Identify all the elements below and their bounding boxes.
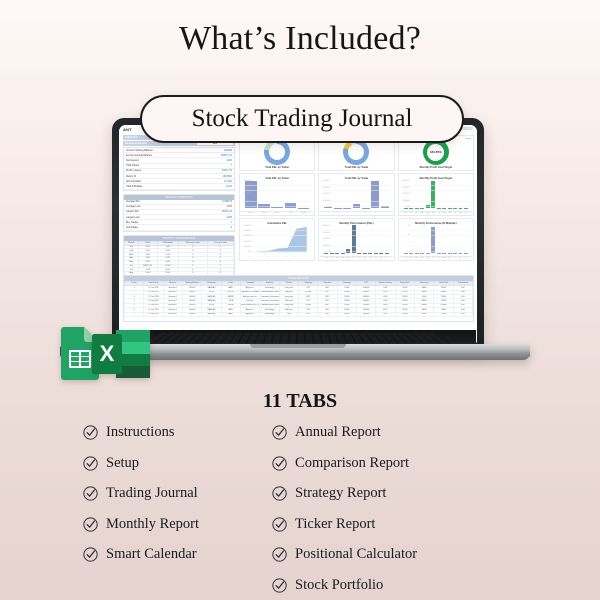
chart-cumulative-pl-area: Cumulative P&L 50,000.0040,000.0030,000.… — [239, 218, 315, 261]
axis-tick-label: Jan — [404, 257, 408, 259]
axis-tick-label: 10000.00 — [403, 200, 410, 202]
y-axis-ticks: 40,000.0030,000.0020,000.0010,000.000.00 — [242, 180, 252, 208]
tab-item-comparison-report[interactable]: Comparison Report — [271, 455, 417, 472]
tab-item-positional-calculator[interactable]: Positional Calculator — [271, 546, 417, 563]
axis-tick-label: Jul — [357, 257, 361, 259]
axis-tick-label: 40,000.00 — [243, 180, 251, 182]
axis-tick-label: 20,000.00 — [243, 193, 251, 195]
axis-tick-label: 20,000.00 — [323, 238, 331, 240]
axis-tick-label: 30000.00 — [403, 187, 410, 189]
axis-tick-label: 40,000.00 — [323, 225, 331, 227]
gridlines — [323, 225, 389, 253]
stat-value: 38401.10 — [222, 210, 232, 213]
axis-tick-label: Aug — [442, 212, 446, 214]
account-statistics-panel: ACCOUNT STATISTICS Average Win 21788.33 … — [123, 194, 235, 232]
axis-tick-label: 5 — [409, 242, 410, 244]
check-circle-icon — [82, 516, 99, 533]
tab-item-label: Smart Calendar — [106, 547, 197, 562]
chart-title: Monthly Profit Goal Target — [400, 166, 472, 169]
chart-row-bars-1: Total P&L by Ticker 40,000.0030,000.0020… — [239, 173, 474, 216]
tab-item-label: Stock Portfolio — [295, 578, 383, 593]
axis-tick-label: 7 — [301, 256, 309, 258]
tab-item-label: Trading Journal — [106, 486, 198, 501]
check-circle-icon — [271, 455, 288, 472]
tab-item-annual-report[interactable]: Annual Report — [271, 424, 417, 441]
table-cell: 4500 — [414, 312, 433, 316]
stat-label: Largest Win — [126, 210, 139, 213]
summary-label: Profit / Losses — [126, 169, 141, 172]
account-selector-label: Choose an account — [125, 142, 147, 145]
table-cell: BUY — [318, 312, 337, 316]
axis-tick-label: Sep — [448, 212, 452, 214]
axis-tick-label: 1 — [245, 256, 253, 258]
axis-tick-label: 2 — [334, 212, 342, 214]
axis-tick-label: 40,000.00 — [323, 180, 331, 182]
axis-tick-label: Jan — [404, 212, 408, 214]
axis-tick-label: Aug — [363, 257, 367, 259]
summary-label: Account Starting Balance — [126, 149, 153, 152]
tab-item-label: Monthly Report — [106, 517, 199, 532]
table-cell: Apple Inc. — [240, 312, 259, 316]
axis-tick-label: 3 — [343, 212, 351, 214]
axis-tick-label: AMZN — [271, 212, 283, 214]
x-axis-ticks: 1234567 — [320, 212, 392, 214]
stat-value: 21788.33 — [222, 200, 232, 203]
axis-tick-label: Nov — [459, 212, 463, 214]
axis-tick-label: 2 — [254, 256, 262, 258]
axis-tick-label: Dec — [385, 257, 389, 259]
summary-label: Net Deposit — [126, 159, 139, 162]
area-plot-area: 50,000.0040,000.0030,000.0020,000.0010,0… — [241, 225, 313, 256]
tab-item-setup[interactable]: Setup — [82, 455, 199, 472]
axis-tick-label: Oct — [374, 257, 378, 259]
axis-tick-label: May — [346, 257, 350, 259]
tab-item-stock-portfolio[interactable]: Stock Portfolio — [271, 577, 417, 594]
axis-tick-label: Aug — [442, 257, 446, 259]
summary-label: Winning Ratio — [126, 180, 141, 183]
y-axis-ticks: 50,000.0040,000.0030,000.0020,000.0010,0… — [242, 225, 252, 253]
legend-entry: Target — [465, 138, 471, 141]
tabs-count-heading: 11 TABS — [0, 390, 600, 413]
axis-tick-label: 30,000.00 — [323, 232, 331, 234]
axis-tick-label: Apr — [420, 257, 424, 259]
app-icons-group: X — [58, 322, 154, 380]
bar-plot-area: 40,000.0030,000.0020,000.0010,000.000.00 — [241, 180, 313, 212]
tab-item-label: Instructions — [106, 425, 174, 440]
chart-row-bars-2: Cumulative P&L 50,000.0040,000.0030,000.… — [239, 218, 474, 261]
x-axis-ticks: 1234567 — [241, 256, 313, 258]
axis-tick-label: 6 — [292, 256, 300, 258]
summary-value: 71.43% — [224, 180, 232, 183]
axis-tick-label: Jan — [324, 257, 328, 259]
summary-label: Account Ending Balance — [126, 154, 152, 157]
summary-value: 12.81 — [226, 185, 232, 188]
page-title: What’s Included? — [0, 20, 600, 58]
tab-item-label: Comparison Report — [295, 456, 409, 471]
summary-value: 84371.31 — [222, 169, 232, 172]
x-axis-ticks: JanFebMarAprMayJunJulAugSepOctNovDec — [400, 212, 472, 214]
axis-tick-label: 7 — [381, 212, 389, 214]
table-row: 715 Jun 2025Account 1100000NASDAQAAPLApp… — [125, 312, 473, 316]
stat-label: Buy Trades — [126, 221, 138, 224]
summary-label: Return % — [126, 175, 136, 178]
check-circle-icon — [271, 577, 288, 594]
tab-item-label: Positional Calculator — [295, 547, 417, 562]
microsoft-excel-icon[interactable]: X — [92, 328, 150, 380]
stat-value: -1205 — [226, 205, 232, 208]
axis-tick-label: 1 — [324, 212, 332, 214]
tab-item-instructions[interactable]: Instructions — [82, 424, 199, 441]
chart-monthly-profit-goal-bar: Monthly Profit Goal Target 40000.0030000… — [398, 173, 474, 216]
gridlines — [244, 180, 310, 208]
axis-tick-label: TSLA — [285, 212, 297, 214]
chart-monthly-performance-r-multiple: Monthly Performance (R-Multiple) 141050 … — [398, 218, 474, 261]
axis-tick-label: Oct — [453, 257, 457, 259]
tabs-column-right: Annual ReportComparison ReportStrategy R… — [271, 424, 417, 594]
axis-tick-label: 3 — [264, 256, 272, 258]
stat-label: Largest Loss — [126, 216, 140, 219]
axis-tick-label: Feb — [409, 212, 413, 214]
tab-item-smart-calendar[interactable]: Smart Calendar — [82, 546, 199, 563]
trade-register: TRADE REGISTER Sr No.Date of buyAccountS… — [123, 275, 474, 322]
axis-tick-label: Dec — [464, 212, 468, 214]
axis-tick-label: 50,000.00 — [243, 225, 251, 227]
axis-tick-label: 5 — [283, 256, 291, 258]
summary-label: Total Trades — [126, 164, 139, 167]
axis-tick-label: 40000.00 — [403, 180, 410, 182]
product-name-pill: Stock Trading Journal — [140, 95, 464, 143]
laptop-mockup: ANT Select Year — [112, 118, 484, 358]
check-circle-icon — [82, 546, 99, 563]
axis-tick-label: 20,000.00 — [323, 193, 331, 195]
axis-tick-label: May — [426, 257, 430, 259]
chart-title: Total P&L by Ticker — [241, 166, 313, 169]
table-cell: 5.00 — [453, 312, 472, 316]
gridlines — [323, 180, 389, 208]
summary-value: 100000 — [224, 149, 232, 152]
axis-tick-label: Feb — [330, 257, 334, 259]
summary-label: Total R Multiple — [126, 185, 142, 188]
x-axis-ticks: JanFebMarAprMayJunJulAugSepOctNovDec — [320, 257, 392, 259]
axis-tick-label: 30,000.00 — [243, 235, 251, 237]
poster-canvas: What’s Included? ANT — [0, 0, 600, 600]
laptop-screen: ANT Select Year — [119, 125, 477, 343]
summary-value: 184371.31 — [221, 154, 232, 157]
y-axis-ticks: 40000.0030000.0020000.0010000.000.00 — [401, 180, 411, 208]
stat-row: Sell Trades 0 — [124, 225, 234, 230]
table-cell: 7 — [125, 312, 144, 316]
axis-tick-label: Apr — [420, 212, 424, 214]
stat-label: Average Win — [126, 200, 140, 203]
axis-tick-label: GOOGL — [258, 212, 270, 214]
tab-item-label: Annual Report — [295, 425, 381, 440]
axis-tick-label: Apr — [341, 257, 345, 259]
axis-tick-label: 40,000.00 — [243, 230, 251, 232]
axis-tick-label: 10 — [408, 234, 410, 236]
axis-tick-label: Dec — [464, 257, 468, 259]
summary-value: 7 — [231, 164, 232, 167]
stat-value: 0 — [231, 226, 232, 229]
axis-tick-label: 10,000.00 — [323, 245, 331, 247]
gridlines — [244, 225, 310, 253]
axis-tick-label: May — [426, 212, 430, 214]
axis-tick-label: Nov — [459, 257, 463, 259]
axis-tick-label: Mar — [415, 257, 419, 259]
axis-tick-label: Jul — [437, 257, 441, 259]
axis-tick-label: META — [298, 212, 310, 214]
stat-label: Sell Trades — [126, 226, 138, 229]
table-cell: Account 1 — [163, 312, 182, 316]
tab-item-trading-journal[interactable]: Trading Journal — [82, 485, 199, 502]
table-cell: 19500 — [434, 312, 453, 316]
table-cell: Day — [279, 312, 298, 316]
table-cell: USD — [376, 312, 395, 316]
bar-plot-area: 40000.0030000.0020000.0010000.000.00 — [400, 180, 472, 212]
axis-tick-label: 4 — [353, 212, 361, 214]
axis-tick-label: Sep — [448, 257, 452, 259]
dashboard-brand: ANT — [123, 127, 132, 132]
chart-monthly-performance-pl: Monthly Performance (P&L) 40,000.0030,00… — [318, 218, 394, 261]
gridlines — [403, 180, 469, 208]
tab-item-ticker-report[interactable]: Ticker Report — [271, 516, 417, 533]
y-axis-ticks: 40,000.0030,000.0020,000.0010,000.000.00 — [321, 225, 331, 253]
laptop-bezel: ANT Select Year — [119, 125, 477, 343]
axis-tick-label: 0.00 — [248, 206, 251, 208]
check-circle-icon — [271, 546, 288, 563]
axis-tick-label: Mar — [335, 257, 339, 259]
table-cell: 19000 — [395, 312, 414, 316]
axis-tick-label: 20,000.00 — [243, 241, 251, 243]
bar-plot-area: 40,000.0030,000.0020,000.0010,000.000.00 — [320, 180, 392, 212]
laptop-lid: ANT Select Year — [112, 118, 484, 350]
table-cell: 100000 — [356, 312, 375, 316]
keyboard-keys — [146, 333, 450, 343]
stat-value: -1205 — [226, 216, 232, 219]
y-axis-ticks: 141050 — [401, 225, 411, 253]
bar-plot-area: 141050 — [400, 225, 472, 257]
chart-total-pl-by-trade-bar: Total P&L by Trade 40,000.0030,000.0020,… — [318, 173, 394, 216]
axis-tick-label: Nov — [379, 257, 383, 259]
bar-plot-area: 40,000.0030,000.0020,000.0010,000.000.00 — [320, 225, 392, 257]
axis-tick-label: 4 — [273, 256, 281, 258]
axis-tick-label: 0 — [409, 251, 410, 253]
y-axis-ticks: 40,000.0030,000.0020,000.0010,000.000.00 — [321, 180, 331, 208]
trade-register-table: Sr No.Date of buyAccountStarting Balance… — [124, 281, 473, 317]
axis-tick-label: AAPL — [245, 212, 257, 214]
axis-tick-label: Sep — [368, 257, 372, 259]
check-circle-icon — [82, 455, 99, 472]
axis-tick-label: Mar — [415, 212, 419, 214]
tab-item-monthly-report[interactable]: Monthly Report — [82, 516, 199, 533]
axis-tick-label: 20000.00 — [403, 193, 410, 195]
axis-tick-label: 10,000.00 — [243, 200, 251, 202]
chart-total-pl-by-ticker-bar: Total P&L by Ticker 40,000.0030,000.0020… — [239, 173, 315, 216]
check-circle-icon — [271, 485, 288, 502]
donut-legend: Target — [465, 138, 471, 141]
axis-tick-label: 0.00 — [327, 206, 330, 208]
axis-tick-label: 5 — [362, 212, 370, 214]
axis-tick-label: 0.00 — [327, 251, 330, 253]
dashboard-left-column: Select Year 2025 Choose an account ALL A… — [123, 135, 235, 295]
axis-tick-label: 10,000.00 — [323, 200, 331, 202]
check-circle-icon — [271, 516, 288, 533]
table-cell: 10000 — [337, 312, 356, 316]
axis-tick-label: 10,000.00 — [243, 246, 251, 248]
spreadsheet-dashboard: ANT Select Year — [119, 125, 477, 343]
tabs-columns: InstructionsSetupTrading JournalMonthly … — [82, 424, 522, 594]
axis-tick-label: 30,000.00 — [323, 187, 331, 189]
chart-title: Total P&L by Trade — [320, 166, 392, 169]
table-cell: 15 Jun 2025 — [144, 312, 163, 316]
check-circle-icon — [82, 424, 99, 441]
axis-tick-label: Jun — [431, 212, 435, 214]
axis-tick-label: Jul — [437, 212, 441, 214]
table-cell: Technology — [260, 312, 279, 316]
tab-item-label: Ticker Report — [295, 517, 375, 532]
axis-tick-label: Feb — [409, 257, 413, 259]
axis-tick-label: Oct — [453, 212, 457, 214]
summary-value: 1200 — [227, 159, 232, 162]
table-cell: ETF — [298, 312, 317, 316]
stat-value: 7 — [231, 221, 232, 224]
excel-x-glyph: X — [100, 341, 115, 366]
tab-item-label: Setup — [106, 456, 139, 471]
table-cell: AAPL — [221, 312, 240, 316]
axis-tick-label: Jun — [431, 257, 435, 259]
year-selector-label: Select Year — [125, 136, 138, 139]
summary-value: 184.55% — [223, 175, 232, 178]
axis-tick-label: 0.00 — [248, 251, 251, 253]
axis-tick-label: Jun — [352, 257, 356, 259]
dashboard-charts-area: AAPL TSLA Total P&L by Ticker Consumer D… — [239, 135, 474, 263]
summary-row: Total R Multiple 12.81 — [124, 184, 234, 189]
x-axis-ticks: JanFebMarAprMayJunJulAugSepOctNovDec — [400, 257, 472, 259]
axis-tick-label: 0.00 — [406, 206, 409, 208]
axis-tick-label: 30,000.00 — [243, 187, 251, 189]
tab-item-label: Strategy Report — [295, 486, 386, 501]
tabs-column-left: InstructionsSetupTrading JournalMonthly … — [82, 424, 199, 594]
stat-label: Average Loss — [126, 205, 141, 208]
axis-tick-label: 14 — [408, 225, 410, 227]
check-circle-icon — [82, 485, 99, 502]
table-cell: 100000 — [182, 312, 201, 316]
table-cell: NASDAQ — [202, 312, 221, 316]
account-summary-panel: Account Starting Balance 100000 Account … — [123, 147, 235, 191]
x-axis-ticks: AAPLGOOGLAMZNTSLAMETA — [241, 212, 313, 214]
check-circle-icon — [271, 424, 288, 441]
axis-tick-label: 6 — [371, 212, 379, 214]
product-name-label: Stock Trading Journal — [192, 105, 413, 133]
gridlines — [403, 225, 469, 253]
tab-item-strategy-report[interactable]: Strategy Report — [271, 485, 417, 502]
